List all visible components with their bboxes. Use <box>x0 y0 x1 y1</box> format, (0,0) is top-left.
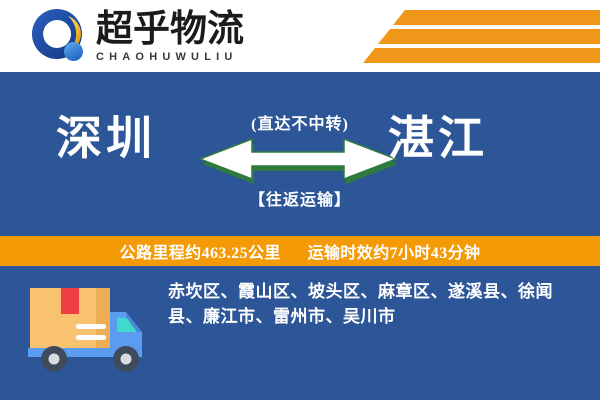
distance-label: 公路里程约463.25公里 <box>120 245 281 262</box>
brand-text: 超乎物流 CHAOHUWULIU <box>96 11 244 63</box>
distance-duration-text: 公路里程约463.25公里 运输时效约7小时43分钟 <box>120 239 481 263</box>
roundtrip-note-label: 【往返运输】 <box>200 186 400 210</box>
brand-name-en: CHAOHUWULIU <box>96 51 244 63</box>
distance-duration-bar: 公路里程约463.25公里 运输时效约7小时43分钟 <box>0 236 600 266</box>
banner-header: 超乎物流 CHAOHUWULIU <box>0 0 600 72</box>
destination-city: 湛江 <box>388 116 488 162</box>
banner-body: 深圳 (直达不中转) 【往返运输】 湛江 公路里程约463.25公里 <box>0 72 600 400</box>
coverage-section: 赤坎区、霞山区、坡头区、麻章区、遂溪县、徐闻县、廉江市、雷州市、吴川市 <box>0 266 600 400</box>
direct-note-label: (直达不中转) <box>200 110 400 134</box>
double-arrow-icon <box>200 138 400 184</box>
delivery-truck-icon <box>18 274 148 378</box>
logistics-route-banner: 超乎物流 CHAOHUWULIU 深圳 (直达不中转) <box>0 0 600 400</box>
coverage-districts-text: 赤坎区、霞山区、坡头区、麻章区、遂溪县、徐闻县、廉江市、雷州市、吴川市 <box>168 280 582 329</box>
route-middle: (直达不中转) 【往返运输】 <box>200 110 400 210</box>
brand-name-cn: 超乎物流 <box>96 11 244 49</box>
route-section: 深圳 (直达不中转) 【往返运输】 湛江 <box>0 72 600 236</box>
brand-logo: 超乎物流 CHAOHUWULIU <box>28 6 244 68</box>
speed-stripes-icon <box>355 0 600 72</box>
duration-label: 运输时效约7小时43分钟 <box>308 245 481 262</box>
circle-crescent-logo-icon <box>28 6 90 68</box>
origin-city: 深圳 <box>56 116 156 162</box>
